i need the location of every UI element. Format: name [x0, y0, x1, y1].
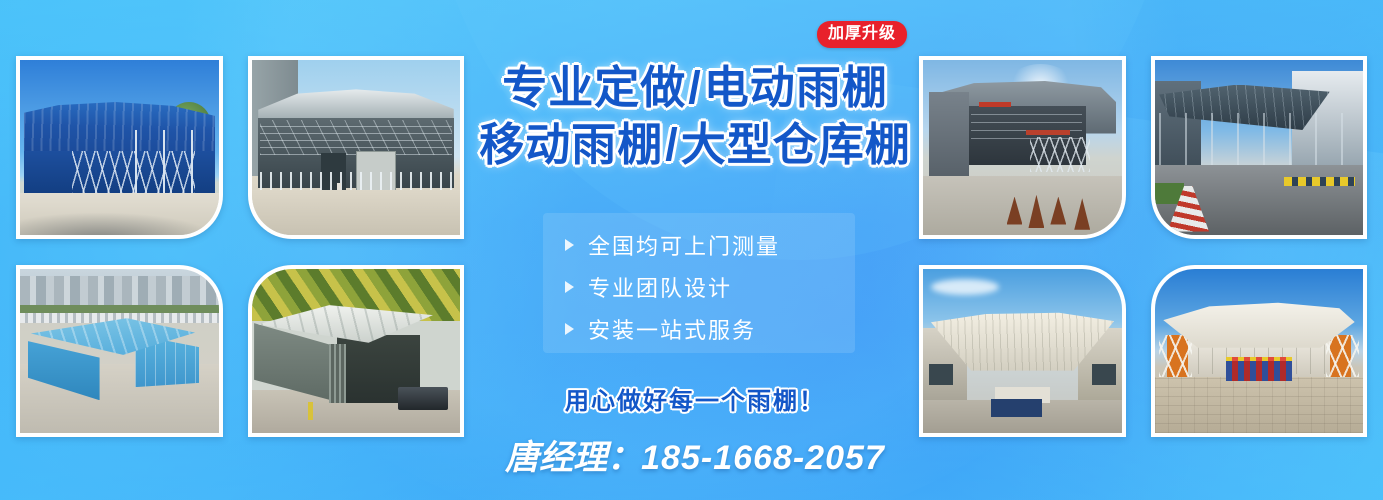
- center-content: 加厚升级 专业定做/电动雨棚 移动雨棚/大型仓库棚 全国均可上门测量 专业团队设…: [470, 0, 920, 500]
- headline-line-2-separator: /: [663, 119, 681, 170]
- photo-blue-membrane-canopy: [16, 56, 223, 239]
- contact-name: 唐经理：: [505, 439, 641, 477]
- contact-phone: 185-1668-2057: [641, 439, 885, 477]
- headline-line-2-right: 大型仓库棚: [681, 119, 911, 170]
- photo-light-blue-canopy-yard: [16, 265, 223, 437]
- feature-item: 专业团队设计: [565, 266, 865, 308]
- headline: 专业定做/电动雨棚 移动雨棚/大型仓库棚: [470, 60, 920, 173]
- triangle-bullet-icon: [565, 323, 574, 335]
- photo-covered-roadway: [1151, 56, 1367, 239]
- feature-label: 专业团队设计: [588, 271, 732, 303]
- upgrade-badge: 加厚升级: [817, 21, 907, 48]
- feature-label: 全国均可上门测量: [588, 229, 780, 261]
- promo-banner: 加厚升级 专业定做/电动雨棚 移动雨棚/大型仓库棚 全国均可上门测量 专业团队设…: [0, 0, 1383, 500]
- headline-line-1: 专业定做/电动雨棚: [470, 60, 920, 117]
- triangle-bullet-icon: [565, 239, 574, 251]
- feature-list: 全国均可上门测量 专业团队设计 安装一站式服务: [565, 224, 865, 350]
- photo-dark-canopy-cones: [919, 56, 1126, 239]
- headline-line-2: 移动雨棚/大型仓库棚: [470, 117, 920, 174]
- contact-line: 唐经理：185-1668-2057: [470, 430, 920, 479]
- feature-item: 安装一站式服务: [565, 308, 865, 350]
- feature-label: 安装一站式服务: [588, 313, 756, 345]
- headline-line-1-separator: /: [686, 62, 704, 113]
- photo-grey-roof-warehouse-trees: [248, 265, 464, 437]
- photo-grey-steel-canopy-shed: [248, 56, 464, 239]
- photo-white-canopy-workers: [1151, 265, 1367, 437]
- slogan: 用心做好每一个雨棚！: [470, 381, 920, 416]
- headline-line-1-left: 专业定做: [502, 62, 686, 113]
- photo-cream-canopy-between-sheds: [919, 265, 1126, 437]
- headline-line-1-right: 电动雨棚: [704, 62, 888, 113]
- triangle-bullet-icon: [565, 281, 574, 293]
- headline-line-2-left: 移动雨棚: [479, 119, 663, 170]
- feature-item: 全国均可上门测量: [565, 224, 865, 266]
